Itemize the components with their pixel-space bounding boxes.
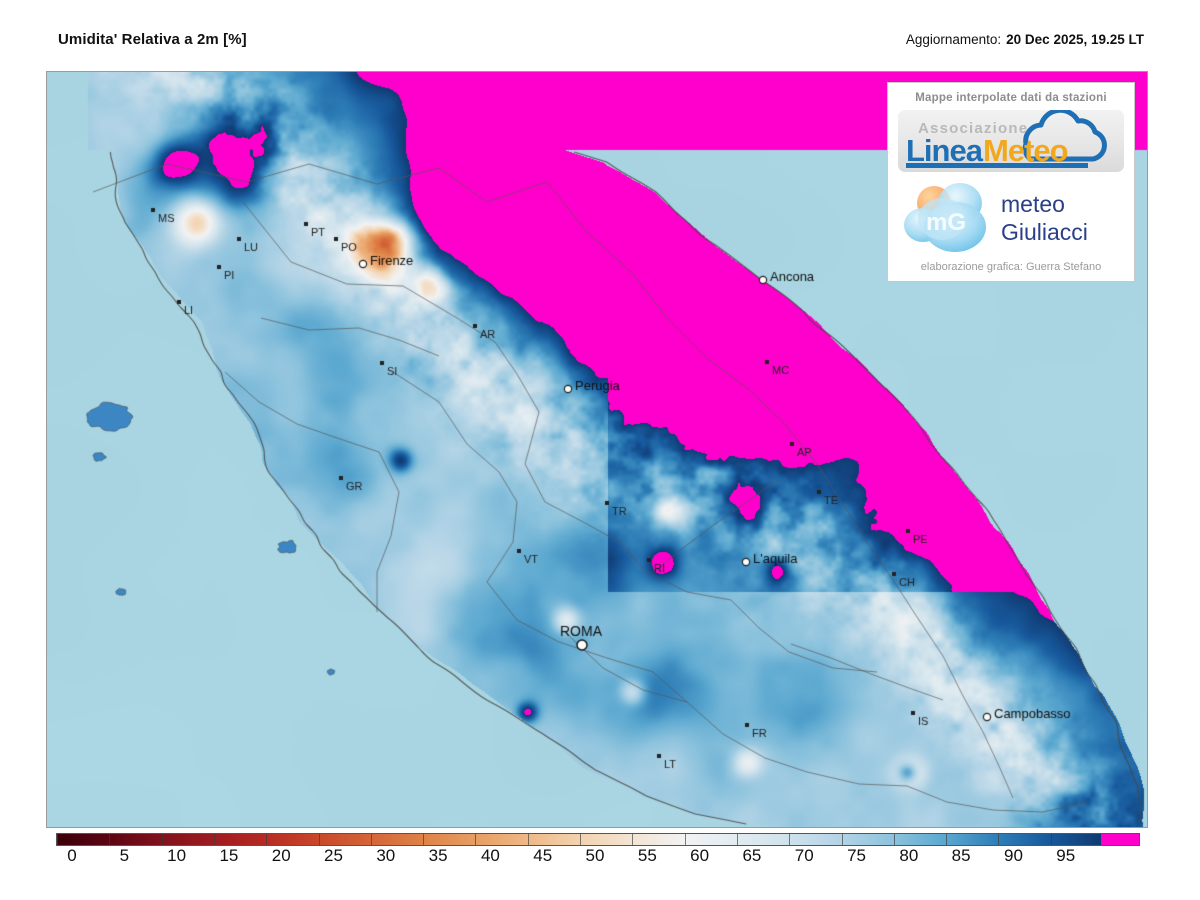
logo-panel: Mappe interpolate dati da stazioni Assoc… (887, 82, 1135, 282)
colorbar-tick-label: 80 (899, 846, 918, 866)
colorbar-tick-label: 95 (1056, 846, 1075, 866)
colorbar-tick-label: 40 (481, 846, 500, 866)
weather-map[interactable]: Mappe interpolate dati da stazioni Assoc… (46, 71, 1148, 828)
colorbar-ticks (57, 834, 1139, 845)
svg-text:Meteo: Meteo (983, 133, 1068, 168)
colorbar-tick-label: 25 (324, 846, 343, 866)
colorbar-tick (894, 834, 895, 845)
logo-caption-top: Mappe interpolate dati da stazioni (896, 92, 1126, 104)
update-stamp: Aggiornamento:20 Dec 2025, 19.25 LT (906, 32, 1144, 47)
svg-text:meteo: meteo (1001, 191, 1065, 217)
colorbar-tick (685, 834, 686, 845)
colorbar-tick (57, 834, 58, 845)
page-header: Umidita' Relativa a 2m [%] Aggiornamento… (0, 0, 1200, 68)
colorbar-tick (842, 834, 843, 845)
svg-text:Giuliacci: Giuliacci (1001, 219, 1088, 245)
colorbar-tick-label: 50 (586, 846, 605, 866)
colorbar-tick-label: 5 (120, 846, 129, 866)
colorbar-tick-label: 90 (1004, 846, 1023, 866)
colorbar-tick-label: 0 (67, 846, 76, 866)
colorbar (56, 833, 1140, 846)
colorbar-tick (109, 834, 110, 845)
colorbar-tick (998, 834, 999, 845)
colorbar-tick (423, 834, 424, 845)
colorbar-tick-label: 55 (638, 846, 657, 866)
colorbar-tick-label: 65 (742, 846, 761, 866)
logo-caption-bottom: elaborazione grafica: Guerra Stefano (896, 261, 1126, 273)
colorbar-tick (789, 834, 790, 845)
colorbar-tick-label: 10 (167, 846, 186, 866)
meteogiuliacci-logo-svg: mG meteo Giuliacci (898, 175, 1124, 259)
colorbar-tick (737, 834, 738, 845)
colorbar-tick-label: 45 (533, 846, 552, 866)
colorbar-tick-label: 35 (429, 846, 448, 866)
colorbar-tick (371, 834, 372, 845)
colorbar-labels: 05101520253035404550556065707580859095 (0, 846, 1200, 874)
colorbar-tick-label: 85 (952, 846, 971, 866)
lineameteo-logo: Associazione Linea Meteo (898, 110, 1124, 172)
colorbar-tick-label: 70 (795, 846, 814, 866)
update-label: Aggiornamento: (906, 32, 1001, 47)
colorbar-tick-label: 20 (272, 846, 291, 866)
colorbar-tick (214, 834, 215, 845)
page-title: Umidita' Relativa a 2m [%] (58, 31, 247, 48)
colorbar-tick (946, 834, 947, 845)
colorbar-tick (475, 834, 476, 845)
meteogiuliacci-logo: mG meteo Giuliacci (898, 175, 1124, 259)
colorbar-tick (266, 834, 267, 845)
lineameteo-logo-svg: Associazione Linea Meteo (898, 110, 1124, 172)
colorbar-tick-label: 75 (847, 846, 866, 866)
colorbar-tick (162, 834, 163, 845)
colorbar-tick-label: 15 (219, 846, 238, 866)
svg-text:Linea: Linea (906, 133, 984, 168)
colorbar-tick-label: 30 (376, 846, 395, 866)
colorbar-tick (1051, 834, 1052, 845)
colorbar-tick-label: 60 (690, 846, 709, 866)
colorbar-tick (319, 834, 320, 845)
colorbar-tick (632, 834, 633, 845)
colorbar-tick (528, 834, 529, 845)
colorbar-tick (580, 834, 581, 845)
update-value: 20 Dec 2025, 19.25 LT (1006, 32, 1144, 47)
svg-text:mG: mG (926, 209, 966, 236)
